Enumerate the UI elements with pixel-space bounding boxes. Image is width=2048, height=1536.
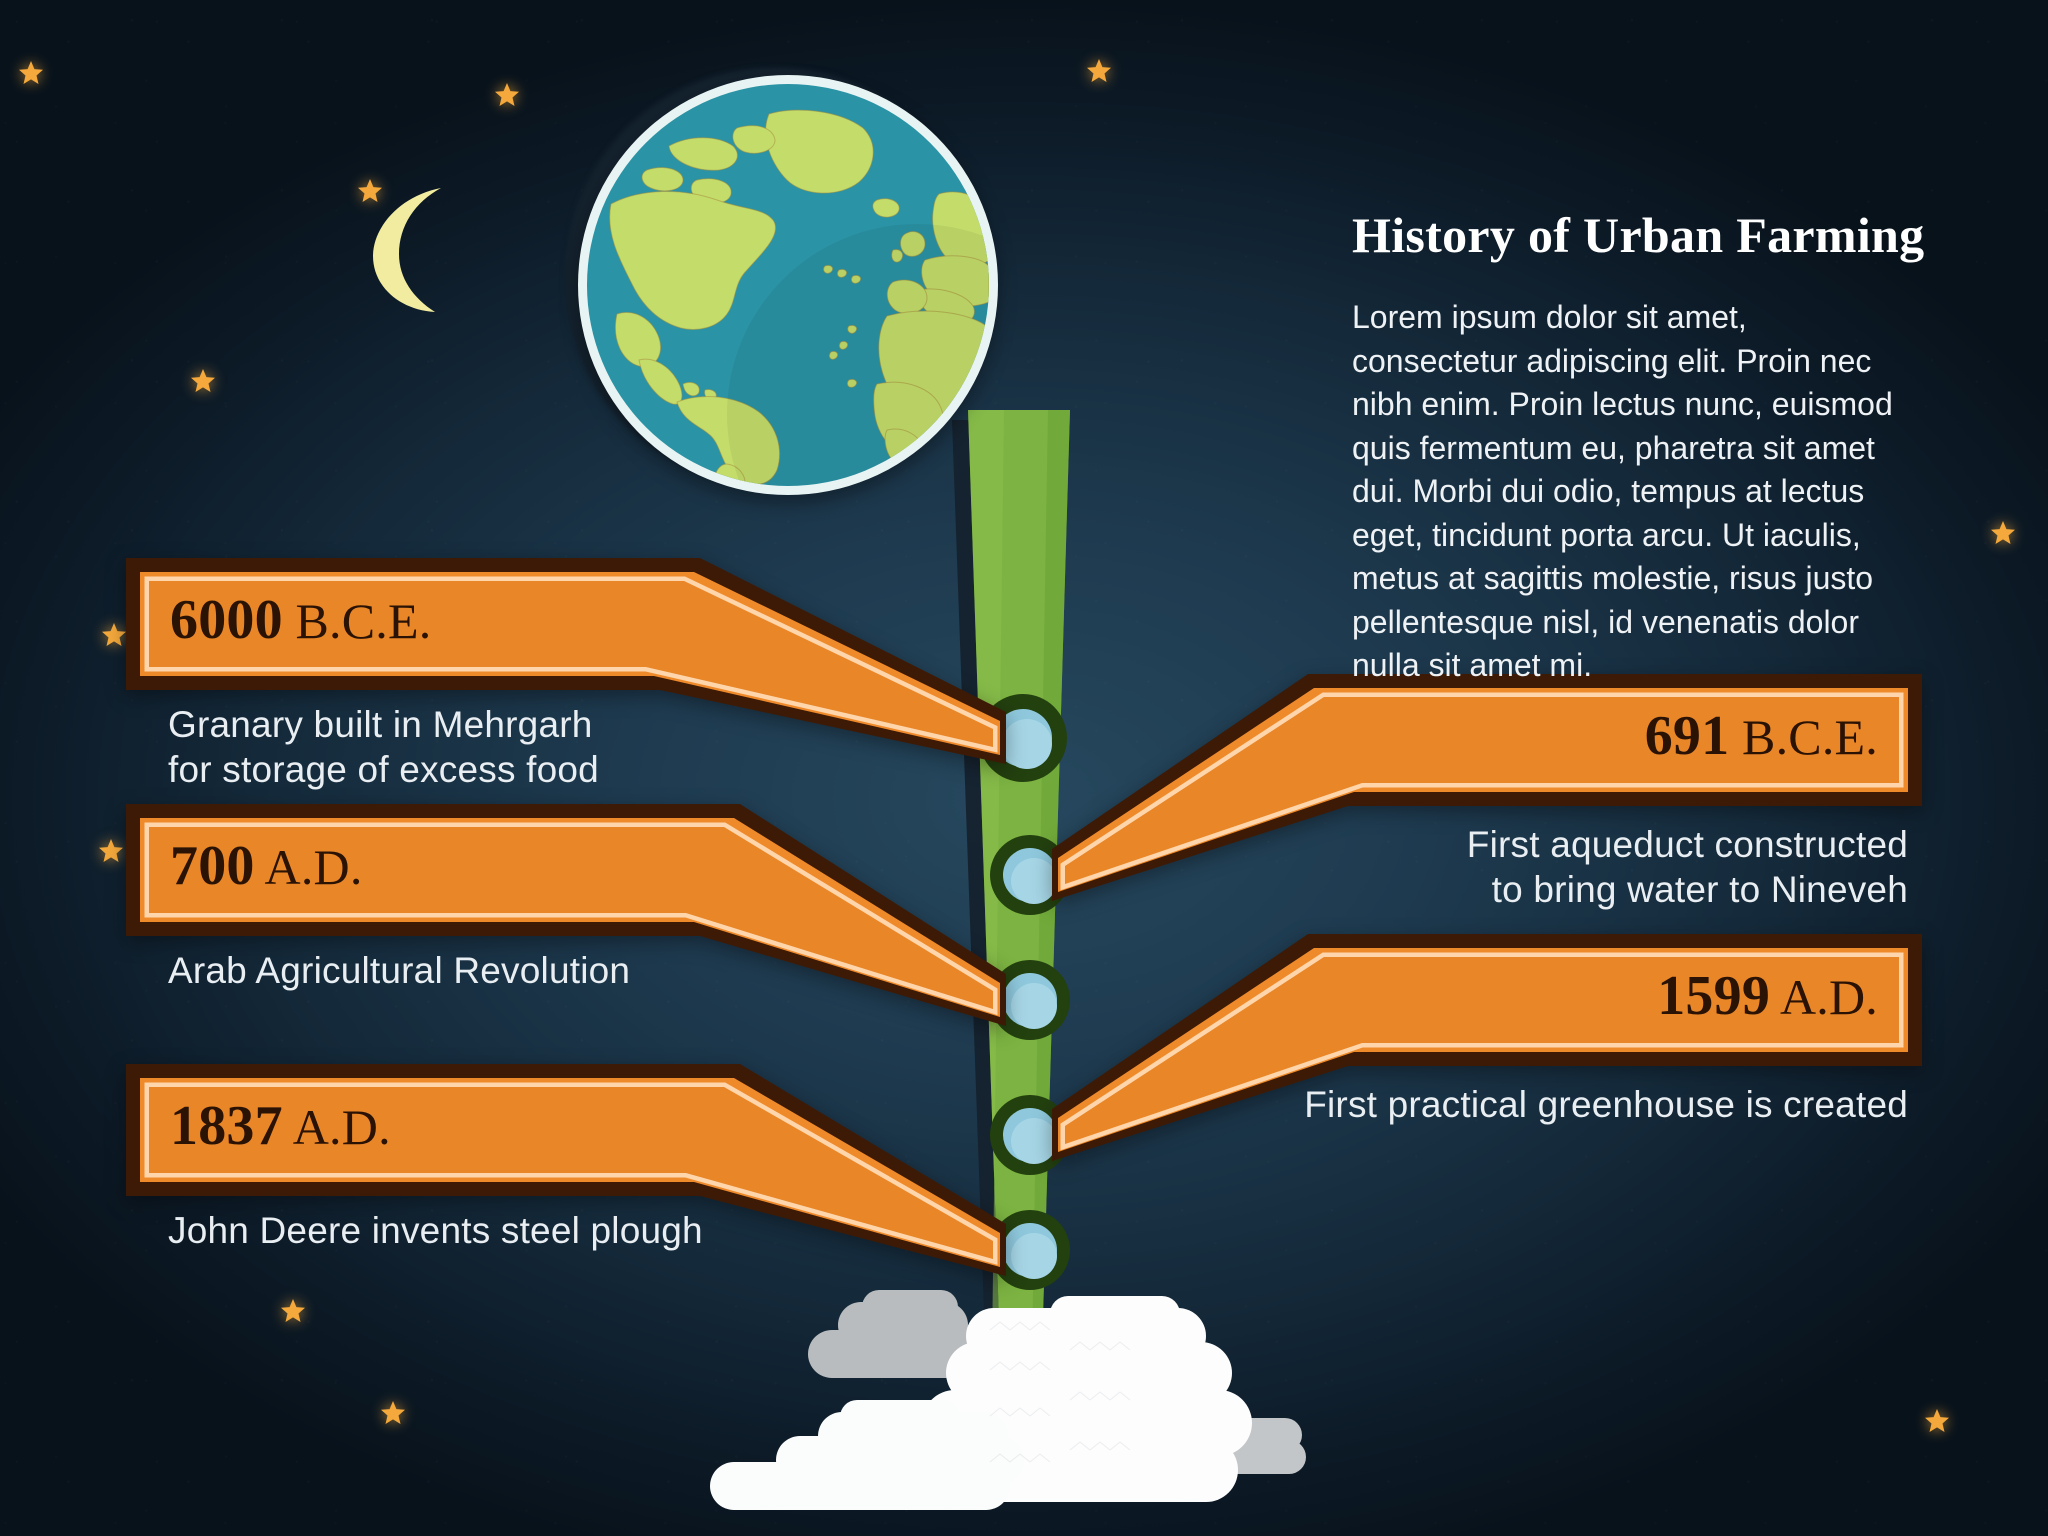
intro-paragraph: Lorem ipsum dolor sit amet, consectetur … [1352,296,1912,688]
timeline-caption: Arab Agricultural Revolution [168,948,928,993]
timeline-year-label: 6000 B.C.E. [170,588,431,652]
timeline-year-label: 1837 A.D. [170,1094,391,1158]
infographic-canvas: History of Urban Farming Lorem ipsum dol… [0,0,2048,1536]
cloud-cluster-icon [690,1290,1310,1536]
timeline-year-label: 1599 A.D. [1657,964,1878,1028]
globe-map [587,84,989,486]
timeline-year-label: 700 A.D. [170,834,363,898]
timeline-era: A.D. [255,839,363,895]
earth-globe-icon [578,75,998,495]
timeline-year: 1599 [1657,965,1770,1027]
timeline-era: A.D. [283,1099,391,1155]
timeline-caption: First practical greenhouse is created [1148,1082,1908,1127]
timeline-year: 1837 [170,1095,283,1157]
timeline-era: B.C.E. [283,593,432,649]
timeline-caption: Granary built in Mehrgarhfor storage of … [168,702,928,792]
timeline-era: B.C.E. [1729,709,1878,765]
timeline-year: 700 [170,835,255,897]
timeline-caption: John Deere invents steel plough [168,1208,928,1253]
page-title: History of Urban Farming [1352,206,1972,264]
timeline-year: 691 [1645,705,1730,767]
timeline-year-label: 691 B.C.E. [1645,704,1878,768]
timeline-caption: First aqueduct constructedto bring water… [1148,822,1908,912]
timeline-era: A.D. [1770,969,1878,1025]
timeline-year: 6000 [170,589,283,651]
